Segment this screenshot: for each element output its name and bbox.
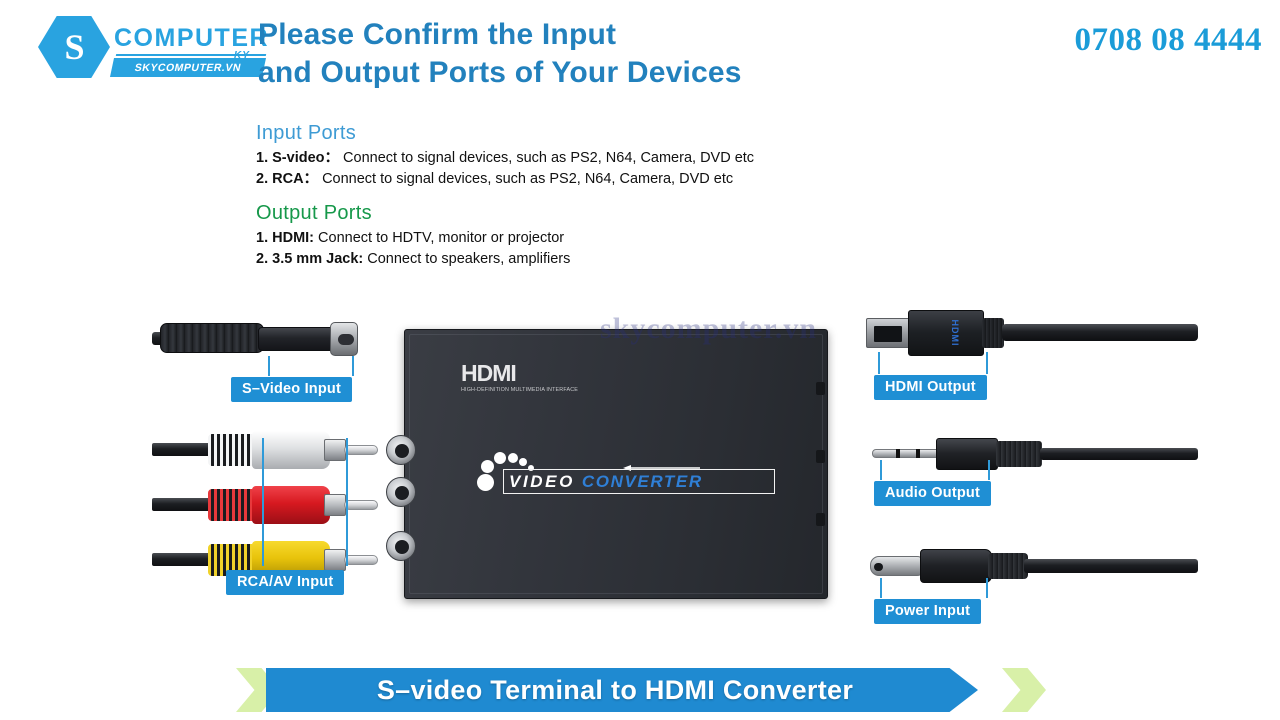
- contact-phone-number[interactable]: 0708 08 4444: [1075, 22, 1263, 59]
- device-jack-1: [386, 435, 416, 465]
- logo-mark-letter: S: [48, 27, 100, 67]
- headline-line-1: Please Confirm the Input: [258, 16, 898, 54]
- audio-jack-tip: [872, 449, 940, 458]
- banner-body: S–video Terminal to HDMI Converter: [266, 668, 978, 712]
- callout-power-input: Power Input: [874, 599, 981, 624]
- input-item-2-name: RCA：: [272, 171, 318, 187]
- page-headline: Please Confirm the Input and Output Port…: [258, 16, 898, 92]
- headline-line-2: and Output Ports of Your Devices: [258, 54, 898, 92]
- rca-collar: [324, 439, 346, 461]
- port-description-panel: Input Ports 1. S-video： Connect to signa…: [256, 122, 976, 269]
- power-wire: [1024, 559, 1198, 573]
- callout-lead-svideo-right: [352, 356, 354, 376]
- device-brand-logo: VIDEO CONVERTER: [475, 448, 775, 494]
- callout-lead-hdmi-left: [878, 352, 880, 374]
- callout-svideo-input: S–Video Input: [231, 377, 352, 402]
- input-ports-title: Input Ports: [256, 122, 976, 145]
- rca-grip: [208, 489, 256, 521]
- callout-lead-power-right: [986, 578, 988, 598]
- bottom-banner: S–video Terminal to HDMI Converter: [236, 668, 1046, 712]
- audio-wire: [1040, 448, 1198, 460]
- input-item-1-name: S-video：: [272, 150, 339, 166]
- brand-logo[interactable]: S COMPUTER KY SKYCOMPUTER.VN: [38, 14, 268, 76]
- input-item-1-desc: Connect to signal devices, such as PS2, …: [343, 150, 754, 166]
- rca-center-pin: [344, 500, 378, 510]
- svideo-connector-ring: [330, 322, 358, 356]
- output-ports-title: Output Ports: [256, 202, 976, 225]
- callout-lead-rca-right: [346, 438, 348, 566]
- output-item-2-name: 3.5 mm Jack:: [272, 251, 363, 267]
- hdmi-wire: [1002, 324, 1198, 341]
- output-ports-list: 1. HDMI: Connect to HDTV, monitor or pro…: [256, 228, 976, 269]
- device-side-port-3: [816, 513, 825, 526]
- video-converter-device: HDMI HIGH-DEFINITION MULTIMEDIA INTERFAC…: [404, 329, 828, 599]
- list-item: 1. S-video： Connect to signal devices, s…: [256, 148, 976, 169]
- callout-rca-av-input: RCA/AV Input: [226, 570, 344, 595]
- logo-domain-text: SKYCOMPUTER.VN: [110, 58, 266, 77]
- banner-title: S–video Terminal to HDMI Converter: [377, 675, 853, 706]
- device-side-port-1: [816, 382, 825, 395]
- hdmi-strain-relief: [982, 318, 1004, 348]
- rca-wire: [152, 443, 214, 456]
- rca-body: [252, 486, 330, 524]
- audio-strain-relief: [996, 441, 1042, 467]
- output-item-1-num: 1.: [256, 230, 268, 246]
- rca-wire: [152, 553, 214, 566]
- device-hdmi-logo-text: HDMI: [461, 362, 578, 385]
- svideo-barrel: [258, 327, 336, 351]
- rca-wire: [152, 498, 214, 511]
- infographic-page: S COMPUTER KY SKYCOMPUTER.VN Please Conf…: [0, 0, 1280, 720]
- logo-hexagon-icon: S: [38, 16, 110, 78]
- output-item-2-num: 2.: [256, 251, 268, 267]
- callout-hdmi-output: HDMI Output: [874, 375, 987, 400]
- audio-jack-band-1: [896, 449, 900, 458]
- input-ports-block: Input Ports 1. S-video： Connect to signa…: [256, 122, 976, 189]
- callout-lead-rca-left: [262, 438, 264, 566]
- callout-lead-audio-right: [988, 460, 990, 480]
- device-jack-2: [386, 477, 416, 507]
- list-item: 2. 3.5 mm Jack: Connect to speakers, amp…: [256, 249, 976, 270]
- device-hdmi-logo-subtext: HIGH-DEFINITION MULTIMEDIA INTERFACE: [461, 387, 578, 393]
- input-item-1-num: 1.: [256, 150, 268, 166]
- output-item-2-desc: Connect to speakers, amplifiers: [367, 251, 570, 267]
- callout-lead-svideo-left: [268, 356, 270, 376]
- rca-collar: [324, 494, 346, 516]
- input-item-2-num: 2.: [256, 171, 268, 187]
- device-side-port-2: [816, 450, 825, 463]
- svideo-strain-relief: [160, 323, 264, 353]
- banner-chevron-right-icon: [1002, 668, 1046, 712]
- callout-lead-audio-left: [880, 460, 882, 480]
- rca-grip: [208, 434, 256, 466]
- output-item-1-name: HDMI:: [272, 230, 314, 246]
- rca-body: [252, 431, 330, 469]
- device-hdmi-logo: HDMI HIGH-DEFINITION MULTIMEDIA INTERFAC…: [461, 362, 578, 393]
- hdmi-connector-plug: [866, 318, 912, 348]
- hdmi-connector-label: HDMI: [938, 316, 972, 350]
- power-connector-body: [920, 549, 992, 583]
- rca-collar: [324, 549, 346, 571]
- output-item-1-desc: Connect to HDTV, monitor or projector: [318, 230, 564, 246]
- logo-company-name: COMPUTER: [114, 24, 269, 53]
- device-logo-text: VIDEO CONVERTER: [509, 472, 775, 492]
- device-jack-3: [386, 531, 416, 561]
- callout-audio-output: Audio Output: [874, 481, 991, 506]
- output-ports-block: Output Ports 1. HDMI: Connect to HDTV, m…: [256, 202, 976, 269]
- device-logo-converter-word: CONVERTER: [582, 472, 703, 492]
- power-strain-relief: [988, 553, 1028, 579]
- list-item: 1. HDMI: Connect to HDTV, monitor or pro…: [256, 228, 976, 249]
- device-logo-video-word: VIDEO: [509, 472, 575, 492]
- rca-center-pin: [344, 555, 378, 565]
- input-item-2-desc: Connect to signal devices, such as PS2, …: [322, 171, 733, 187]
- input-ports-list: 1. S-video： Connect to signal devices, s…: [256, 148, 976, 189]
- power-barrel-tip: [870, 556, 926, 576]
- rca-center-pin: [344, 445, 378, 455]
- list-item: 2. RCA： Connect to signal devices, such …: [256, 169, 976, 190]
- callout-lead-hdmi-right: [986, 352, 988, 374]
- audio-jack-band-2: [916, 449, 920, 458]
- callout-lead-power-left: [880, 578, 882, 598]
